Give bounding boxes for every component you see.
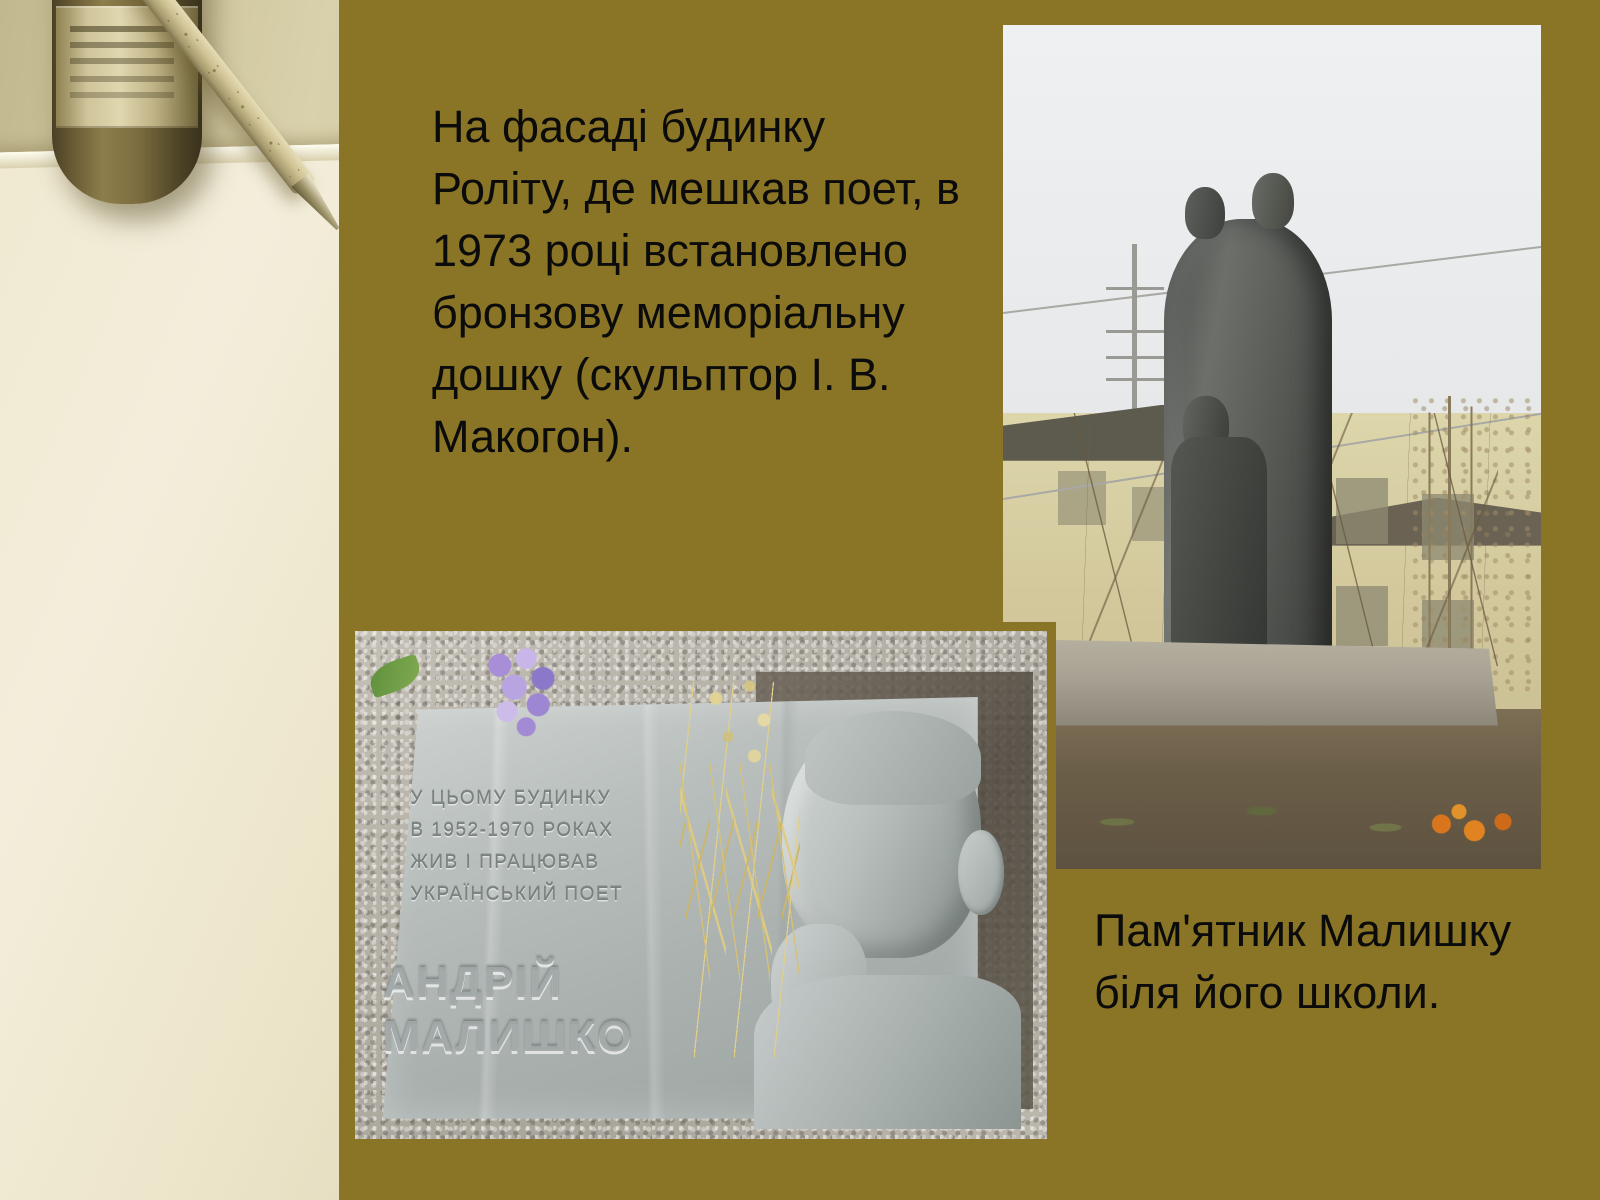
slide-canvas: На фасаді будинку Роліту, де мешкав поет…: [0, 0, 1600, 1200]
memorial-plaque-photo: У ЦЬОМУ БУДИНКУ В 1952-1970 РОКАХ ЖИВ І …: [346, 622, 1056, 1148]
portrait-hair: [805, 711, 981, 805]
body-text: На фасаді будинку Роліту, де мешкав поет…: [432, 96, 972, 468]
portrait-ear: [958, 830, 1003, 915]
monument-photo-inner: [1003, 25, 1541, 869]
statue-head-upper-left: [1185, 187, 1225, 239]
monument-photo: [992, 14, 1552, 880]
dried-straw-heads: [680, 672, 800, 792]
purple-flower-bouquet: [459, 641, 579, 751]
orange-flowers: [1415, 796, 1525, 852]
bronze-statue-group: [1164, 219, 1332, 683]
left-decorative-photo: [0, 0, 339, 1200]
monument-caption: Пам'ятник Малишку біля його школи.: [1094, 900, 1514, 1024]
paper-sheet: [0, 143, 339, 1200]
statue-head-upper-right: [1252, 173, 1294, 229]
